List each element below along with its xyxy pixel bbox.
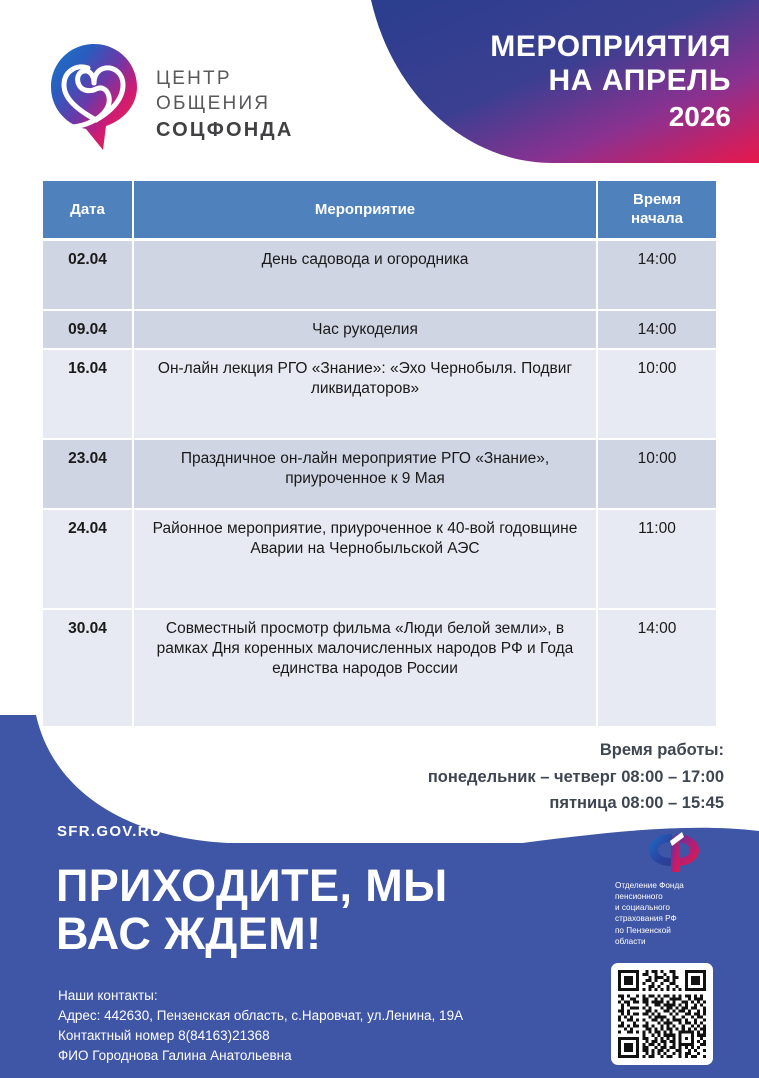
contacts-block: Наши контакты: Адрес: 442630, Пензенская… (58, 986, 463, 1066)
header-title-line-1: МЕРОПРИЯТИЯ (401, 30, 731, 64)
cell-date: 09.04 (43, 310, 133, 349)
sfr-caption: Отделение Фонда пенсионного и социальног… (614, 880, 734, 947)
table-row: 02.04 День садовода и огородника 14:00 (43, 240, 716, 310)
cell-date: 24.04 (43, 509, 133, 609)
sfr-caption-line-3: и социального (615, 902, 734, 913)
header-title-group: МЕРОПРИЯТИЯ НА АПРЕЛЬ 2026 (401, 30, 731, 134)
working-hours-friday: пятница 08:00 – 15:45 (428, 790, 724, 817)
column-header-time-line-2: начала (602, 209, 712, 228)
logo-word-line-2: ОБЩЕНИЯ (156, 91, 293, 117)
website-url[interactable]: SFR.GOV.RU (57, 823, 162, 840)
sfr-branding-block: Отделение Фонда пенсионного и социальног… (614, 828, 734, 947)
sfr-caption-line-1: Отделение Фонда (615, 880, 734, 891)
cell-time: 14:00 (597, 609, 716, 727)
column-header-time-line-1: Время (602, 190, 712, 209)
slogan-line-1: ПРИХОДИТЕ, МЫ (56, 862, 448, 910)
qr-code[interactable] (611, 963, 713, 1065)
cell-time: 14:00 (597, 240, 716, 310)
table-row: 30.04 Совместный просмотр фильма «Люди б… (43, 609, 716, 727)
sfr-fund-logo-icon (646, 828, 702, 874)
poster-root: МЕРОПРИЯТИЯ НА АПРЕЛЬ 2026 (0, 0, 759, 1078)
column-header-event: Мероприятие (133, 181, 597, 240)
cell-event: Совместный просмотр фильма «Люди белой з… (133, 609, 597, 727)
table-header-row: Дата Мероприятие Время начала (43, 181, 716, 240)
header-banner: МЕРОПРИЯТИЯ НА АПРЕЛЬ 2026 (357, 0, 759, 163)
cell-time: 10:00 (597, 439, 716, 509)
sfr-caption-line-5: по Пензенской (615, 925, 734, 936)
footer-slogan: ПРИХОДИТЕ, МЫ ВАС ЖДЕМ! (56, 862, 448, 957)
cell-date: 02.04 (43, 240, 133, 310)
events-schedule-table: Дата Мероприятие Время начала 02.04 День… (43, 181, 716, 728)
table-row: 24.04 Районное мероприятие, приуроченное… (43, 509, 716, 609)
cell-event: Праздничное он-лайн мероприятие РГО «Зна… (133, 439, 597, 509)
working-hours-block: Время работы: понедельник – четверг 08:0… (428, 737, 724, 817)
working-hours-title: Время работы: (428, 737, 724, 764)
contacts-phone: Контактный номер 8(84163)21368 (58, 1026, 463, 1046)
logo-word-line-3: СОЦФОНДА (156, 117, 293, 144)
cell-event: День садовода и огородника (133, 240, 597, 310)
contacts-address: Адрес: 442630, Пензенская область, с.Нар… (58, 1006, 463, 1026)
column-header-date: Дата (43, 181, 133, 240)
header-title-year: 2026 (401, 98, 731, 134)
table-row: 23.04 Праздничное он-лайн мероприятие РГ… (43, 439, 716, 509)
sfr-caption-line-4: страхования РФ (615, 913, 734, 924)
cell-time: 10:00 (597, 349, 716, 439)
table-row: 09.04 Час рукоделия 14:00 (43, 310, 716, 349)
cell-time: 11:00 (597, 509, 716, 609)
center-logo-block: ЦЕНТР ОБЩЕНИЯ СОЦФОНДА (48, 40, 293, 152)
cell-date: 30.04 (43, 609, 133, 727)
sfr-caption-line-2: пенсионного (615, 891, 734, 902)
cell-time: 14:00 (597, 310, 716, 349)
heart-speech-bubble-logo-icon (48, 40, 140, 152)
cell-event: Районное мероприятие, приуроченное к 40-… (133, 509, 597, 609)
column-header-time: Время начала (597, 181, 716, 240)
cell-date: 16.04 (43, 349, 133, 439)
sfr-caption-line-6: области (615, 936, 734, 947)
cell-event: Час рукоделия (133, 310, 597, 349)
table-row: 16.04 Он-лайн лекция РГО «Знание»: «Эхо … (43, 349, 716, 439)
contacts-person: ФИО Городнова Галина Анатольевна (58, 1046, 463, 1066)
contacts-title: Наши контакты: (58, 986, 463, 1006)
header-title-line-2: НА АПРЕЛЬ (401, 64, 731, 98)
slogan-line-2: ВАС ЖДЕМ! (56, 910, 448, 958)
working-hours-weekday: понедельник – четверг 08:00 – 17:00 (428, 764, 724, 791)
cell-event: Он-лайн лекция РГО «Знание»: «Эхо Черноб… (133, 349, 597, 439)
logo-word-line-1: ЦЕНТР (156, 66, 293, 92)
center-logo-wordmark: ЦЕНТР ОБЩЕНИЯ СОЦФОНДА (156, 48, 293, 145)
cell-date: 23.04 (43, 439, 133, 509)
